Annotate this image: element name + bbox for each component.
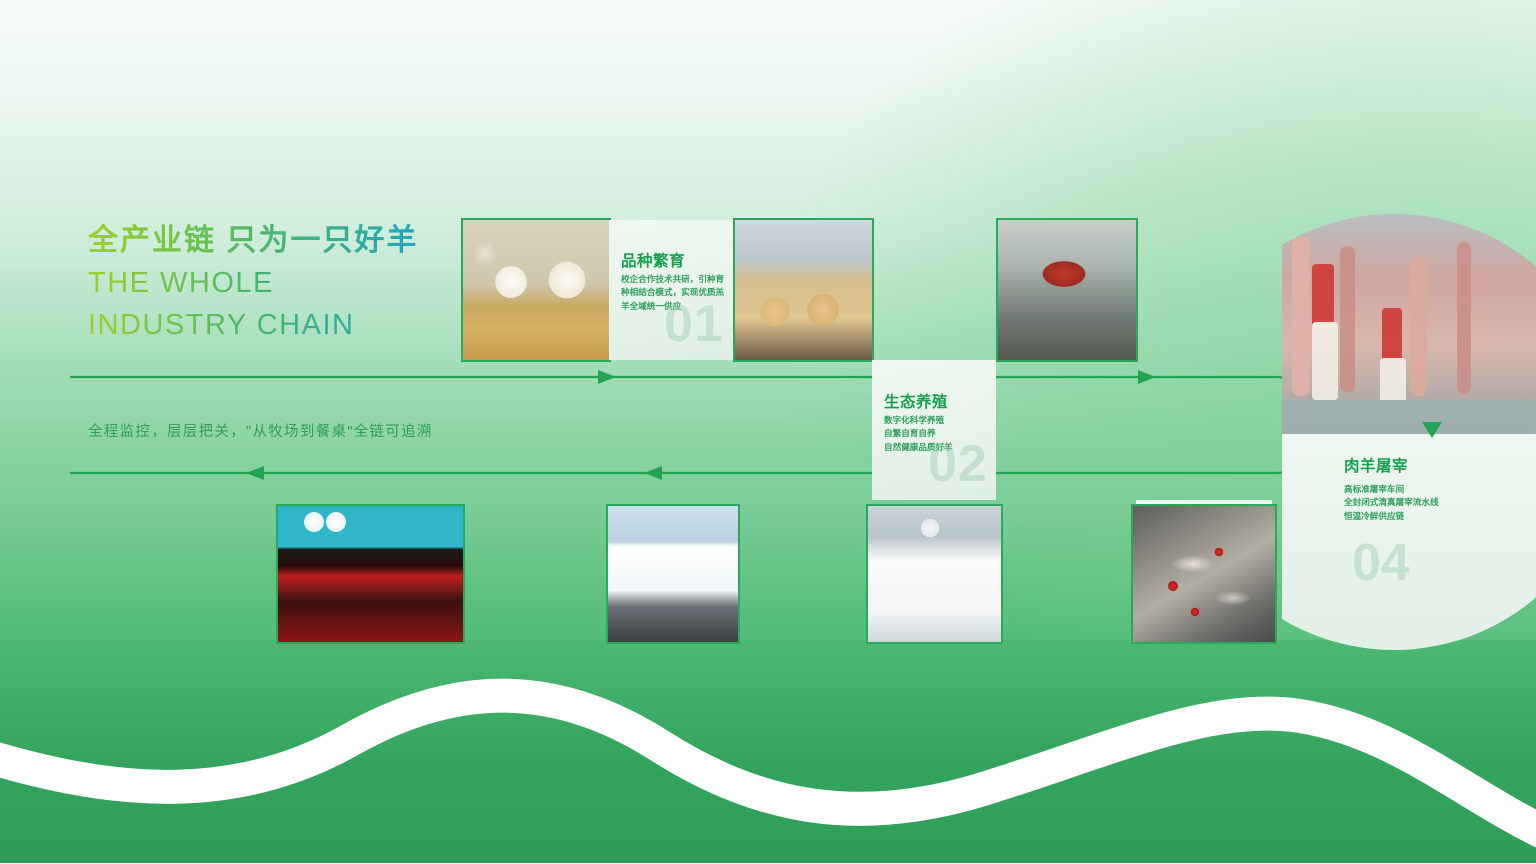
step-02-title: 生态养殖 xyxy=(884,390,948,412)
step-02-number: 02 xyxy=(928,438,988,490)
page-title-en-line2: INDUSTRY CHAIN xyxy=(88,306,468,344)
step-01-photo-right xyxy=(735,220,872,360)
page-title-en-line1: THE WHOLE xyxy=(88,264,468,302)
headline-block: 全产业链 只为一只好羊 THE WHOLE INDUSTRY CHAIN xyxy=(88,222,468,344)
step-08-photo xyxy=(278,506,463,642)
page-title-cn: 全产业链 只为一只好羊 xyxy=(88,222,468,260)
step-01-photo-left xyxy=(463,220,609,360)
step-04-circle: 肉羊屠宰 高标准屠宰车间 全封闭式清真屠宰流水线 恒温冷鲜供应链 04 xyxy=(1282,212,1536,652)
step-02-card: 生态养殖 数字化科学养殖 自繁自育自养 自然健康品质好羊 02 xyxy=(872,360,996,500)
decorative-wave xyxy=(0,630,1536,864)
step-01-card: 品种繁育 校企合作技术共研，引种育 种相结合模式，实现优质羔 羊全域统一供应 0… xyxy=(609,220,733,360)
flow-arrow-track xyxy=(70,360,1330,490)
step-01-number: 01 xyxy=(664,298,724,350)
step-01-title: 品种繁育 xyxy=(621,249,685,271)
step-04-desc: 高标准屠宰车间 全封闭式清真屠宰流水线 恒温冷鲜供应链 xyxy=(1344,483,1534,523)
step-04-number: 04 xyxy=(1352,537,1534,589)
step-04-title: 肉羊屠宰 xyxy=(1344,454,1534,476)
step-04-text-block: 肉羊屠宰 高标准屠宰车间 全封闭式清真屠宰流水线 恒温冷鲜供应链 04 xyxy=(1344,454,1534,589)
step-05-photo xyxy=(1133,506,1275,642)
step-06-photo xyxy=(868,506,1001,642)
step-02-photo-right xyxy=(998,220,1136,360)
step-07-photo xyxy=(608,506,738,642)
